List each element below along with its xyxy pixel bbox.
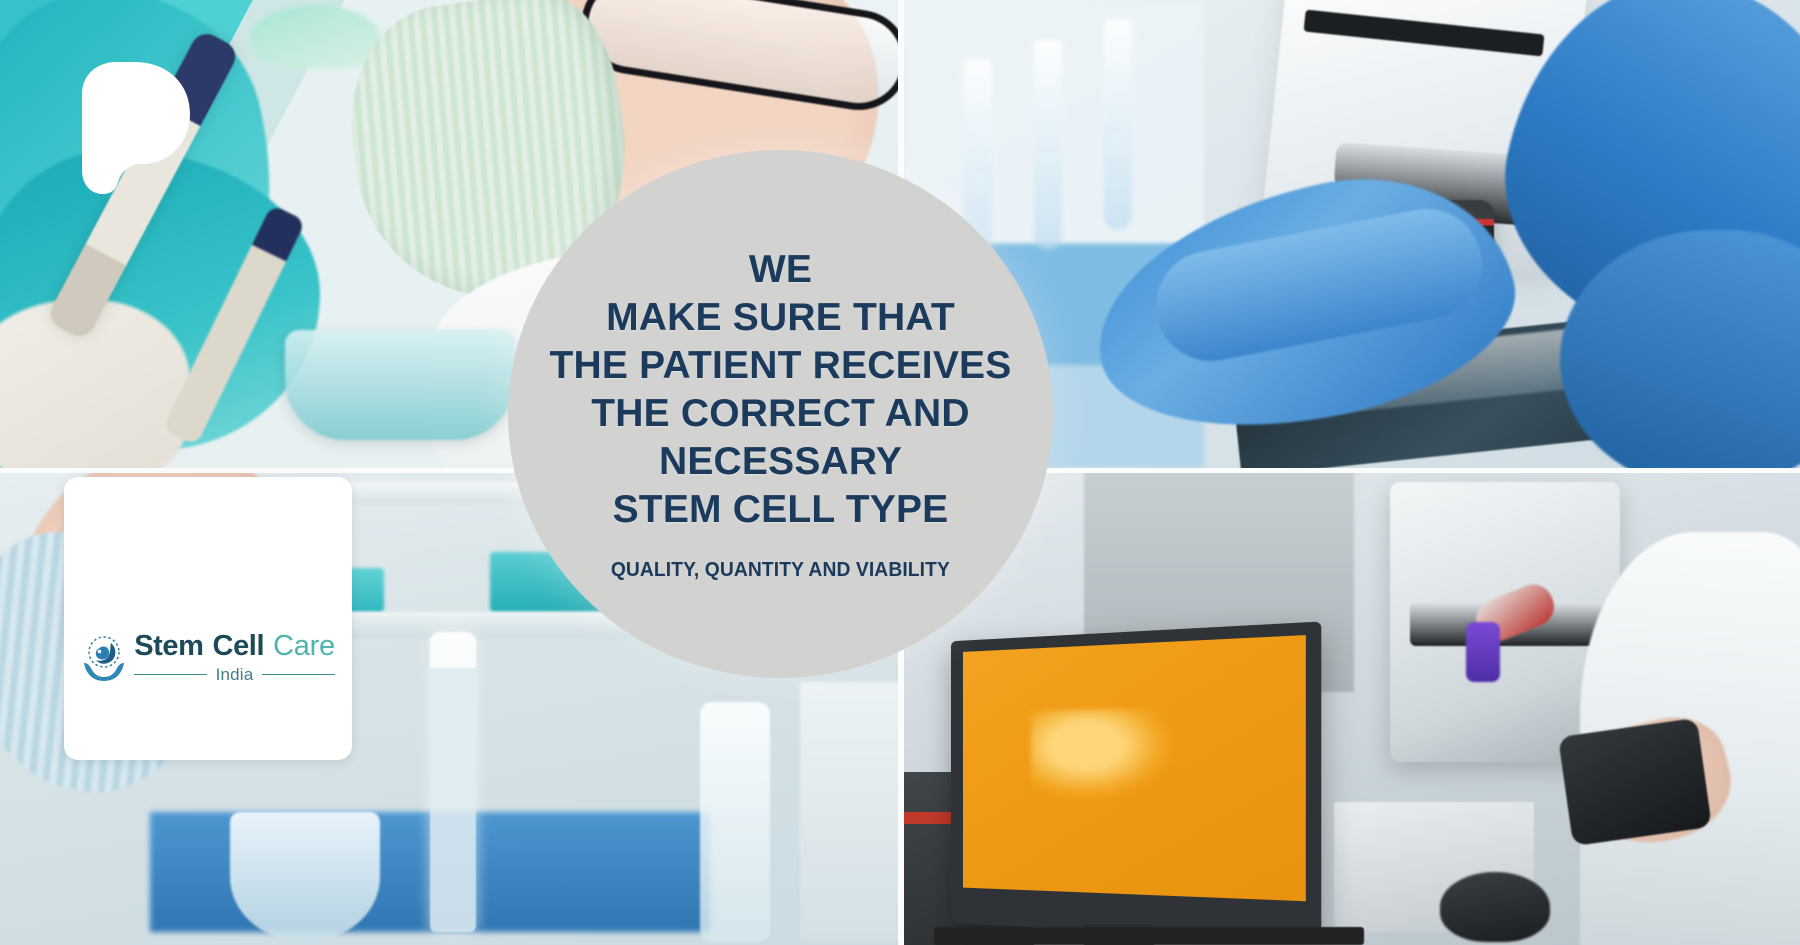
microscope-eyepiece	[1558, 718, 1712, 846]
collage-panel-bottom-right	[904, 472, 1800, 945]
brand-word-care: Care	[273, 632, 335, 661]
keyboard	[934, 927, 1364, 945]
tall-test-tube-secondary	[700, 702, 770, 942]
erlenmeyer-flask	[230, 812, 380, 942]
headline-line-3: THE PATIENT RECEIVES	[550, 342, 1012, 390]
headline-line-5: NECESSARY	[550, 438, 1012, 486]
headline-line-6: STEM CELL TYPE	[550, 486, 1012, 534]
headline-line-2: MAKE SURE THAT	[550, 294, 1012, 342]
brand-region-label: India	[207, 666, 263, 683]
mouse	[1440, 872, 1550, 942]
petri-dish	[285, 330, 515, 440]
embryo-in-hands-icon	[81, 633, 127, 683]
computer-monitor	[951, 621, 1321, 942]
callout-headline: WE MAKE SURE THAT THE PATIENT RECEIVES T…	[550, 246, 1012, 534]
brand-logo: Stem Cell Care India	[81, 632, 335, 683]
brand-wordmark: Stem Cell Care India	[134, 632, 335, 683]
brand-name-row: Stem Cell Care	[134, 632, 335, 661]
tall-test-tube	[430, 632, 476, 932]
promo-banner: WE MAKE SURE THAT THE PATIENT RECEIVES T…	[0, 0, 1800, 945]
callout-subheadline: QUALITY, QUANTITY AND VIABILITY	[611, 558, 950, 582]
surgical-cap	[250, 5, 380, 69]
headline-line-4: THE CORRECT AND	[550, 390, 1012, 438]
brand-region-row: India	[134, 666, 335, 683]
patreon-logo-icon[interactable]	[72, 60, 192, 195]
brand-word-cell: Cell	[213, 632, 265, 661]
cryovial-purple	[1466, 622, 1500, 682]
brand-word-stem: Stem	[134, 632, 203, 661]
callout-circle: WE MAKE SURE THAT THE PATIENT RECEIVES T…	[508, 150, 1053, 678]
lab-cabinet	[800, 682, 900, 942]
lab-coat-cuff	[0, 300, 190, 468]
logo-rule-right	[262, 674, 334, 676]
headline-line-1: WE	[550, 246, 1012, 294]
monitor-screen-microscopy-image	[963, 635, 1306, 901]
brand-logo-card[interactable]: Stem Cell Care India	[64, 477, 352, 760]
logo-rule-left	[134, 674, 206, 676]
